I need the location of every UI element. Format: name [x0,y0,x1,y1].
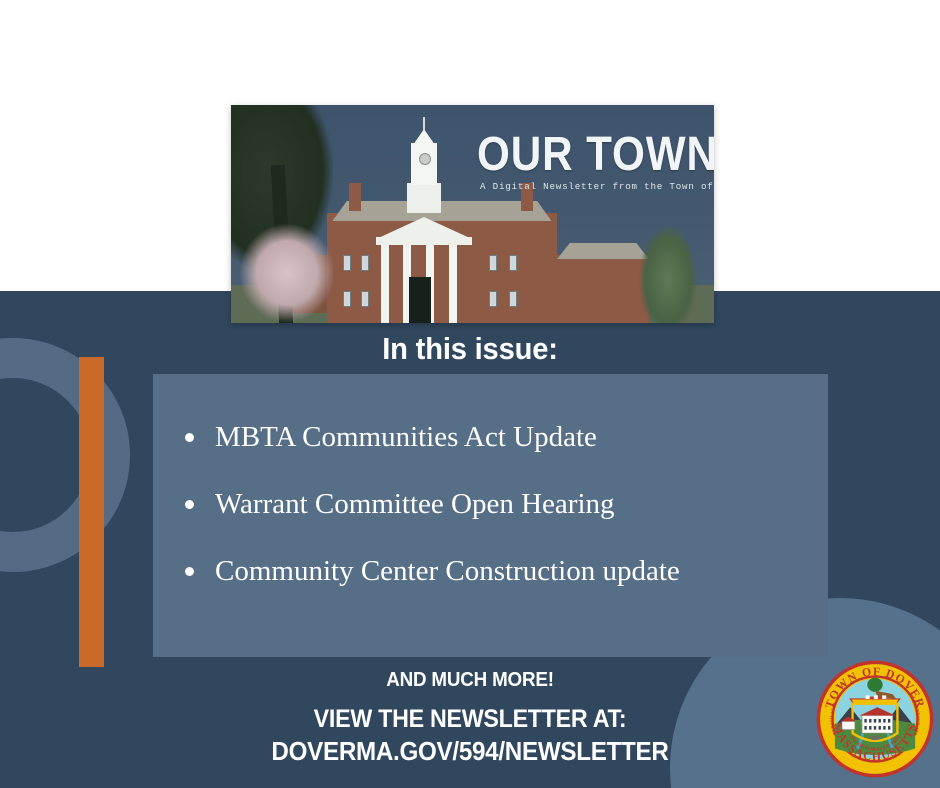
view-newsletter-label: VIEW THE NEWSLETTER AT: [33,705,907,734]
banner-column [381,245,389,323]
list-item: MBTA Communities Act Update [153,404,828,471]
banner-evergreen-tree [639,225,697,323]
list-item-label: MBTA Communities Act Update [215,422,597,454]
banner-window [509,255,517,271]
issue-contents-panel: MBTA Communities Act Update Warrant Comm… [153,374,828,657]
banner-window [361,291,369,307]
bullet-dot-icon [185,567,194,576]
list-item-label: Community Center Construction update [215,556,680,588]
banner-window [361,255,369,271]
banner-right-wing [557,255,649,323]
list-item: Warrant Committee Open Hearing [153,471,828,538]
banner-window [489,255,497,271]
banner-column [449,245,457,323]
banner-chimney-left [349,183,361,211]
list-item-label: Warrant Committee Open Hearing [215,489,615,521]
issue-item-list: MBTA Communities Act Update Warrant Comm… [153,404,828,605]
and-much-more-text: AND MUCH MORE! [28,669,912,692]
banner-title: OUR TOWN [477,127,714,182]
list-item: Community Center Construction update [153,538,828,605]
banner-window [509,291,517,307]
newsletter-url[interactable]: DOVERMA.GOV/594/NEWSLETTER [33,736,907,767]
banner-cupola-base [407,183,441,213]
banner-spire [423,117,425,131]
town-of-dover-seal: TOWN OF DOVER MASSACHUSETTS PARISH 1748 … [816,660,934,778]
banner-window [343,291,351,307]
banner-subtitle: A Digital Newsletter from the Town of Do… [480,181,714,192]
orange-accent-bar [79,357,104,667]
decorative-ring-shape [0,338,130,572]
in-this-issue-heading: In this issue: [28,331,912,367]
clock-icon [419,153,431,165]
banner-window [489,291,497,307]
banner-entrance-door [409,277,431,323]
bullet-dot-icon [185,500,194,509]
banner-flowering-tree [239,223,335,323]
newsletter-cover-image[interactable]: OUR TOWN A Digital Newsletter from the T… [231,105,714,323]
bullet-dot-icon [185,433,194,442]
newsletter-promo-poster: MARCH NEWSLETTER NOW LIVE! [0,0,940,788]
banner-window [343,255,351,271]
banner-portico-entablature [376,237,472,245]
